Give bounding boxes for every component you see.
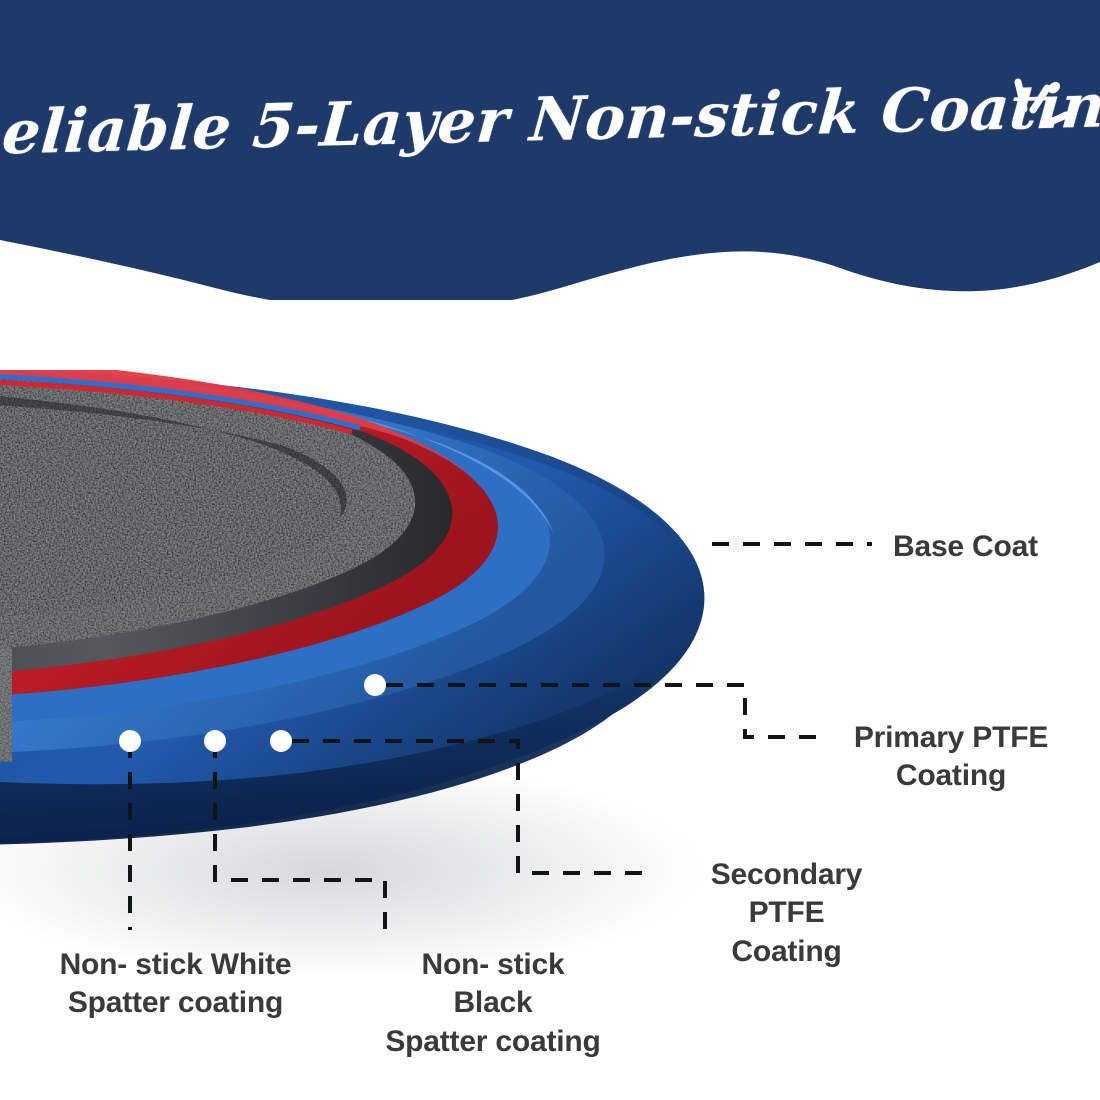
sparkle-burst-icon <box>1004 76 1074 146</box>
cookware-cutaway-illustration <box>0 370 780 870</box>
label-secondary-ptfe: Secondary PTFE Coating <box>669 856 904 971</box>
header-banner <box>0 0 1100 300</box>
label-primary-ptfe: Primary PTFE Coating <box>836 719 1066 796</box>
label-base-coat: Base Coat <box>893 528 1038 566</box>
banner-wave-shape <box>0 0 1100 300</box>
pan-layers-graphic <box>0 370 780 870</box>
label-black-spatter: Non- stick Black Spatter coating <box>378 946 608 1061</box>
infographic-canvas: Reliable 5-Layer Non-stick Coating <box>0 0 1100 1100</box>
label-white-spatter: Non- stick White Spatter coating <box>58 946 293 1023</box>
